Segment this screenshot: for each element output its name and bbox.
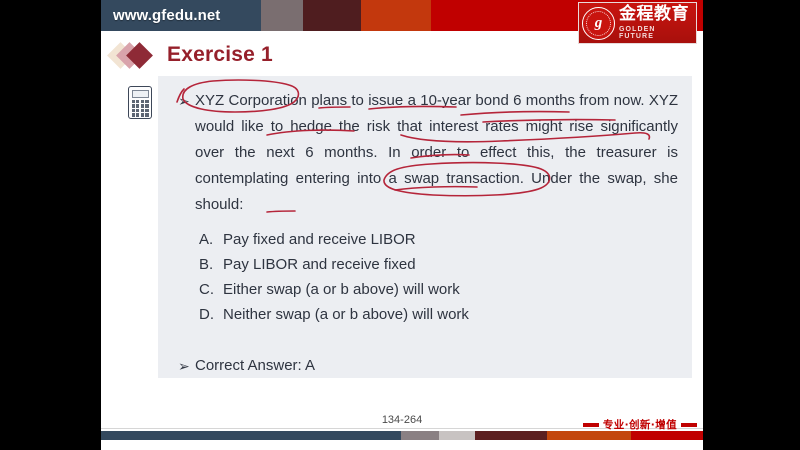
slide-title-row: Exercise 1 (111, 38, 273, 72)
option-a-key: A. (199, 227, 223, 252)
answer-bullet-icon: ➢ (178, 355, 195, 377)
footer-bar-segment-lightgray (439, 431, 475, 440)
footer-bar-segment-maroon (475, 431, 547, 440)
option-d[interactable]: D. Neither swap (a or b above) will work (199, 302, 678, 327)
logo-seal-letter: g (595, 16, 603, 31)
option-c-key: C. (199, 277, 223, 302)
question-panel: ➢ XYZ Corporation plans to issue a 10-ye… (158, 76, 692, 378)
page-title: Exercise 1 (167, 43, 273, 67)
slogan-text: 专业·创新·增值 (603, 417, 677, 432)
header-bar-segment-gray (261, 0, 303, 31)
calculator-display-icon (132, 90, 149, 98)
option-b[interactable]: B. Pay LIBOR and receive fixed (199, 252, 678, 277)
slogan-dash-right-icon (681, 423, 697, 427)
answer-row: ➢ Correct Answer: A (178, 355, 678, 377)
calculator-icon (128, 86, 152, 119)
question-row: ➢ XYZ Corporation plans to issue a 10-ye… (178, 88, 678, 218)
footer-bar-segment-red (631, 431, 703, 440)
logo-name-en: GOLDEN FUTURE (619, 26, 692, 40)
footer-bar (101, 431, 703, 440)
option-b-label: Pay LIBOR and receive fixed (223, 252, 416, 277)
footer-slogan: 专业·创新·增值 (583, 417, 697, 432)
option-c-label: Either swap (a or b above) will work (223, 277, 460, 302)
calculator-keys-icon (132, 100, 149, 117)
option-c[interactable]: C. Either swap (a or b above) will work (199, 277, 678, 302)
correct-answer-text: Correct Answer: A (195, 355, 315, 377)
footer-bar-segment-navy (101, 431, 401, 440)
logo-text: 金程教育 GOLDEN FUTURE (619, 6, 692, 40)
options-list: A. Pay fixed and receive LIBOR B. Pay LI… (199, 227, 678, 327)
option-a-label: Pay fixed and receive LIBOR (223, 227, 416, 252)
option-d-key: D. (199, 302, 223, 327)
question-bullet-icon: ➢ (178, 88, 195, 218)
question-body: ➢ XYZ Corporation plans to issue a 10-ye… (178, 88, 678, 377)
brand-logo: g 金程教育 GOLDEN FUTURE (578, 2, 697, 44)
diamond-bullet-icon (111, 40, 163, 70)
screen-letterbox: www.gfedu.net g 金程教育 GOLDEN FUTURE Exerc… (0, 0, 800, 450)
logo-seal-icon: g (582, 7, 615, 40)
header-bar-segment-maroon (303, 0, 361, 31)
option-d-label: Neither swap (a or b above) will work (223, 302, 469, 327)
question-text: XYZ Corporation plans to issue a 10-year… (195, 88, 678, 218)
option-b-key: B. (199, 252, 223, 277)
header-bar-segment-orangered (361, 0, 431, 31)
slogan-dash-left-icon (583, 423, 599, 427)
footer-bar-segment-gray (401, 431, 439, 440)
logo-name-cn: 金程教育 (619, 6, 692, 23)
footer-bar-segment-orangered (547, 431, 631, 440)
option-a[interactable]: A. Pay fixed and receive LIBOR (199, 227, 678, 252)
site-url: www.gfedu.net (113, 0, 220, 31)
slide-canvas: www.gfedu.net g 金程教育 GOLDEN FUTURE Exerc… (101, 0, 703, 450)
